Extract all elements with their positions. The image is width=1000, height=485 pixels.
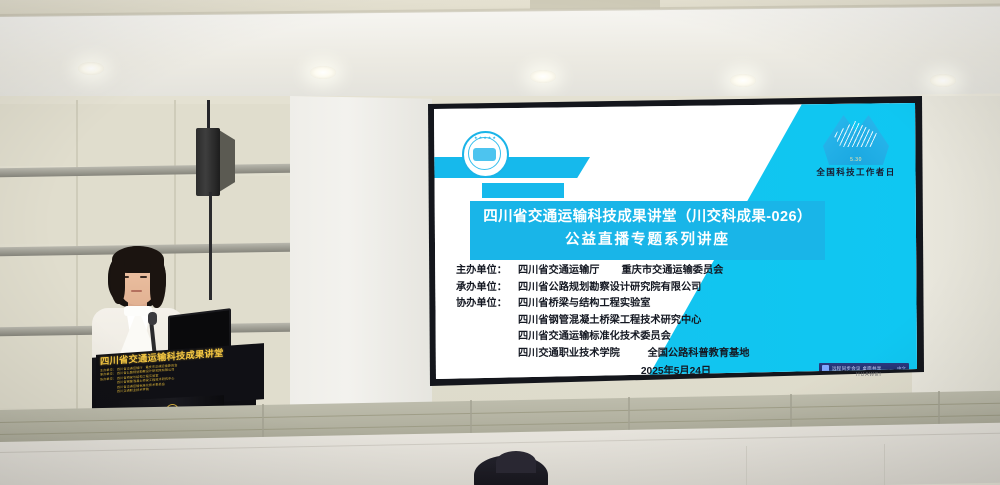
slide-body-block: 主办单位： 四川省交通运输厅 重庆市交通运输委员会 承办单位： 四川省公路规划勘… [456, 263, 856, 379]
ceiling-soffit [0, 6, 1000, 104]
row-label: 承办单位： [456, 280, 518, 297]
logo-caption: 全国科技工作者日 [813, 166, 899, 178]
emblem-dots: ★★★★★ [464, 133, 507, 176]
slide-banner-bar [430, 157, 590, 178]
national-sci-tech-workers-day-logo: 5.30 全国科技工作者日 [813, 113, 899, 187]
slide-title-line-1: 四川省交通运输科技成果讲堂（川交科成果-026） [480, 208, 815, 228]
ceiling-downlight-4 [730, 74, 756, 87]
row-spacer [600, 263, 622, 280]
slide-last-line: 四川交通职业技术学院 全国公路科普教育基地 [456, 346, 856, 363]
presenter-eye-right [140, 276, 147, 278]
wall-panel-2 [0, 176, 292, 244]
slide-title-line-2: 公益直播专题系列讲座 [480, 230, 815, 251]
ceiling-downlight-1 [78, 62, 104, 75]
dado-seam-4 [790, 394, 792, 430]
row-value: 四川省交通运输厅 [518, 263, 600, 280]
ceiling-downlight-5 [930, 74, 956, 87]
presentation-room-photo: ★★★★★ 5.30 全国科技工作者日 四川省交通运输科技成果讲堂（川交科成果-… [0, 0, 1000, 485]
dado-seam-1 [262, 404, 264, 440]
presenter-hair-side-left [110, 258, 125, 304]
speaker-cable-lower [209, 192, 212, 300]
presenter-mouth [131, 290, 142, 292]
row-value: 四川省桥梁与结构工程实验室 [518, 296, 650, 313]
wall-panel-1 [0, 104, 292, 166]
audience-member-head-top [496, 451, 536, 473]
wall-panel-seam-1 [76, 100, 78, 412]
slide-row-coorganizer: 协办单位： 四川省桥梁与结构工程实验室 [456, 296, 856, 313]
logo-date-mark: 5.30 [823, 157, 889, 163]
dado-seam-3 [628, 397, 630, 433]
ceiling-downlight-2 [310, 66, 336, 79]
slide-title-block: 四川省交通运输科技成果讲堂（川交科成果-026） 公益直播专题系列讲座 [470, 201, 825, 260]
ceiling-downlight-3 [530, 70, 556, 83]
slide-extra-line-2: 四川省交通运输标准化技术委员会 [456, 329, 856, 346]
floor-tile-seam-1 [746, 446, 747, 485]
slide-canvas: ★★★★★ 5.30 全国科技工作者日 四川省交通运输科技成果讲堂（川交科成果-… [430, 101, 917, 379]
wall-column-left [290, 96, 432, 429]
row-value: 四川省公路规划勘察设计研究院有限公司 [518, 280, 701, 297]
round-emblem-icon: ★★★★★ [462, 131, 509, 178]
slide-row-host: 承办单位： 四川省公路规划勘察设计研究院有限公司 [456, 280, 856, 297]
presenter-hair-side-right [150, 258, 166, 308]
row-label: 主办单位： [456, 263, 518, 280]
row-label: 协办单位： [456, 296, 518, 313]
slide-row-organizer: 主办单位： 四川省交通运输厅 重庆市交通运输委员会 [456, 263, 856, 280]
dado-seam-2 [470, 400, 472, 436]
slide-banner-bar-secondary [482, 183, 564, 198]
speaker-mount-bracket [219, 130, 235, 192]
last-line-part-1: 四川交通职业技术学院 [518, 348, 620, 359]
dado-seam-5 [938, 391, 940, 427]
logo-mark-icon: 5.30 [823, 113, 889, 165]
row-value-2: 重庆市交通运输委员会 [622, 263, 724, 280]
podium-microphone-head [148, 312, 157, 325]
floor-tile-seam-2 [884, 444, 885, 485]
wall-speaker [196, 128, 220, 196]
display-screen[interactable]: ★★★★★ 5.30 全国科技工作者日 四川省交通运输科技成果讲堂（川交科成果-… [430, 101, 917, 379]
wall-column-right [912, 96, 1000, 396]
last-line-part-2: 全国公路科普教育基地 [648, 348, 750, 359]
slide-extra-line-1: 四川省钢管混凝土桥梁工程技术研究中心 [456, 313, 856, 330]
